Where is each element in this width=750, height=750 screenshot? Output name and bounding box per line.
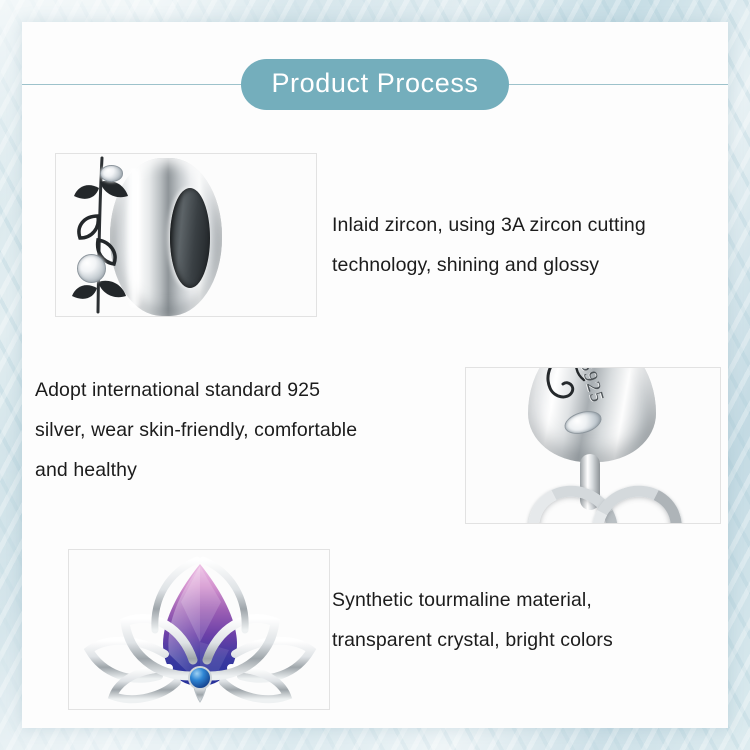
charm-body: S925 [528,367,656,462]
feature-image-silver-hallmark: S925 [465,367,721,524]
decorative-border: Product Process [0,0,750,750]
photo-stage: S925 [466,368,720,523]
feature-text-line: transparent crystal, bright colors [332,620,613,660]
feature-image-zircon [55,153,317,317]
bead-bore [170,188,210,288]
blue-accent-stone [189,667,211,689]
feature-text-line: silver, wear skin-friendly, comfortable [35,410,357,450]
zircon-stone-top [100,165,123,182]
photo-stage [69,550,329,709]
feature-text-line: technology, shining and glossy [332,245,646,285]
feature-text-zircon: Inlaid zircon, using 3A zircon cutting t… [332,205,646,285]
feature-text-tourmaline: Synthetic tourmaline material, transpare… [332,580,613,660]
content-card: Product Process [22,22,728,728]
photo-stage [56,154,316,316]
feature-image-lotus [68,549,330,710]
banner-rule-right [505,84,728,85]
banner: Product Process [22,59,728,109]
feature-text-silver: Adopt international standard 925 silver,… [35,370,357,490]
feature-text-line: and healthy [35,450,357,490]
page-title: Product Process [241,59,508,110]
feature-text-line: Adopt international standard 925 [35,370,357,410]
zircon-stone-bottom [77,254,106,283]
feature-text-line: Synthetic tourmaline material, [332,580,613,620]
lotus-charm [69,550,330,710]
feature-text-line: Inlaid zircon, using 3A zircon cutting [332,205,646,245]
banner-rule-left [22,84,245,85]
